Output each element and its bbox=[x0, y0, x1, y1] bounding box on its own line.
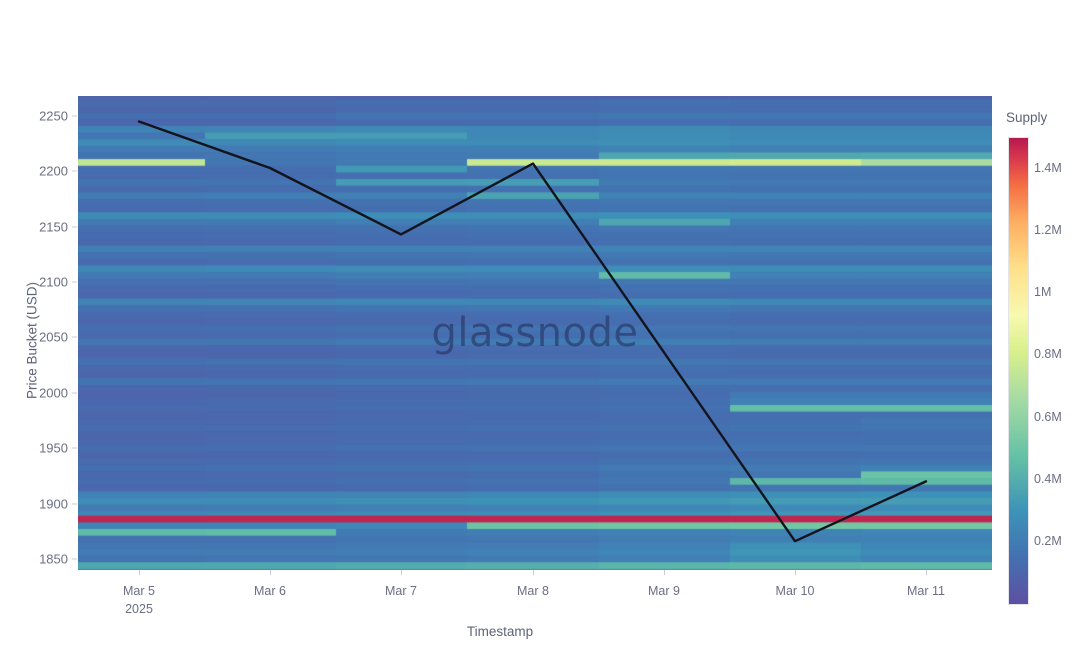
heatmap-chart: glassnode 225022002150210020502000195019… bbox=[0, 0, 1084, 650]
x-tick-mark bbox=[270, 570, 271, 575]
colorbar-tick-label: 1M bbox=[1034, 285, 1051, 299]
y-tick-mark bbox=[72, 337, 77, 338]
y-axis-ticks: 225022002150210020502000195019001850 bbox=[0, 0, 1084, 650]
y-tick-mark bbox=[72, 503, 77, 504]
colorbar-tick-label: 0.6M bbox=[1034, 410, 1062, 424]
colorbar-title: Supply bbox=[1006, 110, 1047, 125]
x-tick-label: Mar 8 bbox=[517, 584, 549, 598]
colorbar-tick-label: 1.2M bbox=[1034, 223, 1062, 237]
colorbar-tick-label: 0.8M bbox=[1034, 347, 1062, 361]
x-tick-mark bbox=[926, 570, 927, 575]
x-tick-year-label: 2025 bbox=[125, 602, 153, 616]
x-tick-mark bbox=[664, 570, 665, 575]
x-tick-mark bbox=[401, 570, 402, 575]
y-tick-mark bbox=[72, 282, 77, 283]
y-tick-mark bbox=[72, 558, 77, 559]
x-tick-mark bbox=[795, 570, 796, 575]
y-tick-mark bbox=[72, 392, 77, 393]
colorbar-gradient[interactable] bbox=[1008, 137, 1029, 605]
colorbar-tick-label: 0.4M bbox=[1034, 472, 1062, 486]
y-tick-mark bbox=[72, 115, 77, 116]
x-tick-label: Mar 9 bbox=[648, 584, 680, 598]
y-tick-label: 2250 bbox=[8, 108, 68, 123]
y-tick-mark bbox=[72, 226, 77, 227]
x-tick-label: Mar 7 bbox=[385, 584, 417, 598]
y-tick-label: 2200 bbox=[8, 164, 68, 179]
y-tick-label: 1900 bbox=[8, 496, 68, 511]
x-tick-mark bbox=[139, 570, 140, 575]
x-tick-label: Mar 6 bbox=[254, 584, 286, 598]
y-tick-label: 2150 bbox=[8, 219, 68, 234]
y-axis-title: Price Bucket (USD) bbox=[25, 241, 40, 441]
x-tick-label: Mar 5 bbox=[123, 584, 155, 598]
x-tick-label: Mar 10 bbox=[776, 584, 815, 598]
colorbar-tick-label: 0.2M bbox=[1034, 534, 1062, 548]
x-axis-title: Timestamp bbox=[0, 624, 1000, 639]
x-tick-label: Mar 11 bbox=[907, 584, 945, 598]
y-tick-label: 1950 bbox=[8, 441, 68, 456]
colorbar-tick-label: 1.4M bbox=[1034, 161, 1062, 175]
x-tick-mark bbox=[533, 570, 534, 575]
y-tick-mark bbox=[72, 171, 77, 172]
y-tick-mark bbox=[72, 448, 77, 449]
y-tick-label: 1850 bbox=[8, 551, 68, 566]
